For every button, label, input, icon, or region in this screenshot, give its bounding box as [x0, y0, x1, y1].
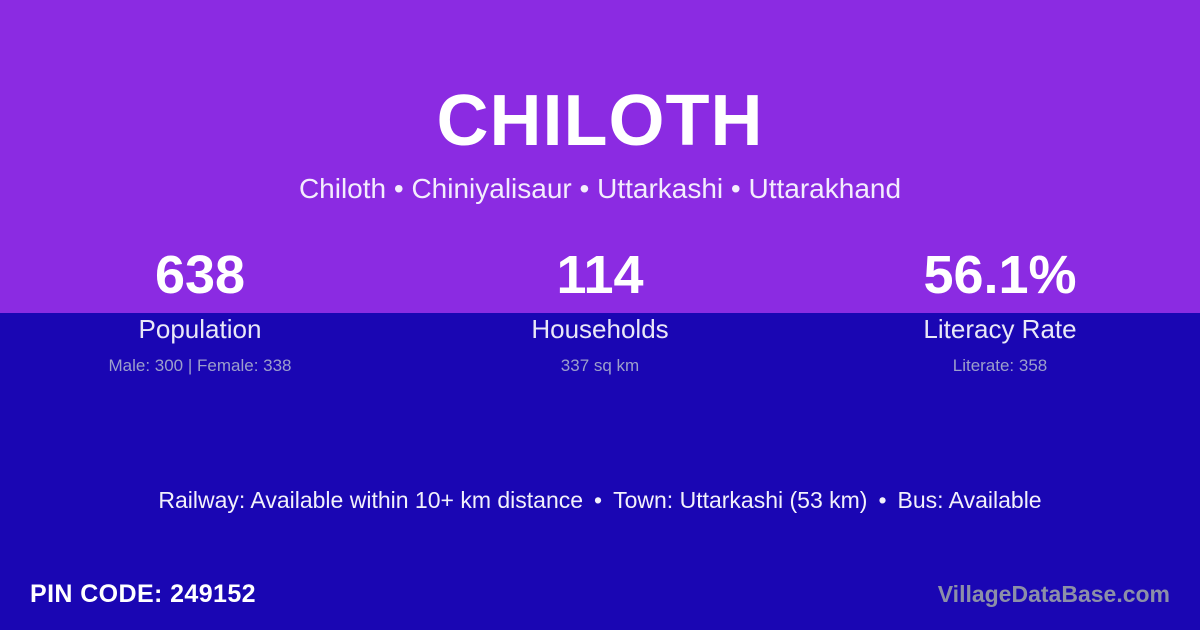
amenities-line: Railway: Available within 10+ km distanc… [0, 486, 1200, 515]
stat-value-literacy-rate: 56.1% [923, 246, 1076, 304]
card-header: CHILOTH Chiloth • Chiniyalisaur • Uttark… [0, 0, 1200, 240]
amenity-separator-2: • [867, 486, 897, 515]
stat-literacy-rate: 56.1% Literacy Rate Literate: 358 [800, 246, 1200, 376]
stat-label-households: Households [531, 314, 668, 344]
stat-sub-population: Male: 300 | Female: 338 [108, 355, 291, 376]
stat-label-population: Population [139, 314, 262, 344]
card-footer: PIN CODE: 249152 VillageDataBase.com [0, 572, 1200, 616]
stat-population: 638 Population Male: 300 | Female: 338 [0, 246, 400, 376]
stat-sub-households: 337 sq km [561, 355, 639, 376]
stats-row: 638 Population Male: 300 | Female: 338 1… [0, 246, 1200, 376]
amenity-bus: Bus: Available [898, 487, 1042, 513]
village-info-card: CHILOTH Chiloth • Chiniyalisaur • Uttark… [0, 0, 1200, 630]
stat-value-population: 638 [155, 246, 245, 304]
page-title: CHILOTH [437, 84, 764, 158]
stat-label-literacy-rate: Literacy Rate [923, 314, 1076, 344]
amenity-railway: Railway: Available within 10+ km distanc… [158, 487, 583, 513]
brand-watermark: VillageDataBase.com [938, 580, 1170, 608]
amenity-town: Town: Uttarkashi (53 km) [613, 487, 867, 513]
pin-code: PIN CODE: 249152 [30, 579, 256, 609]
breadcrumb: Chiloth • Chiniyalisaur • Uttarkashi • U… [299, 172, 901, 206]
stat-households: 114 Households 337 sq km [400, 246, 800, 376]
stat-value-households: 114 [556, 246, 643, 304]
amenity-separator-1: • [583, 486, 613, 515]
stat-sub-literacy-rate: Literate: 358 [953, 355, 1048, 376]
